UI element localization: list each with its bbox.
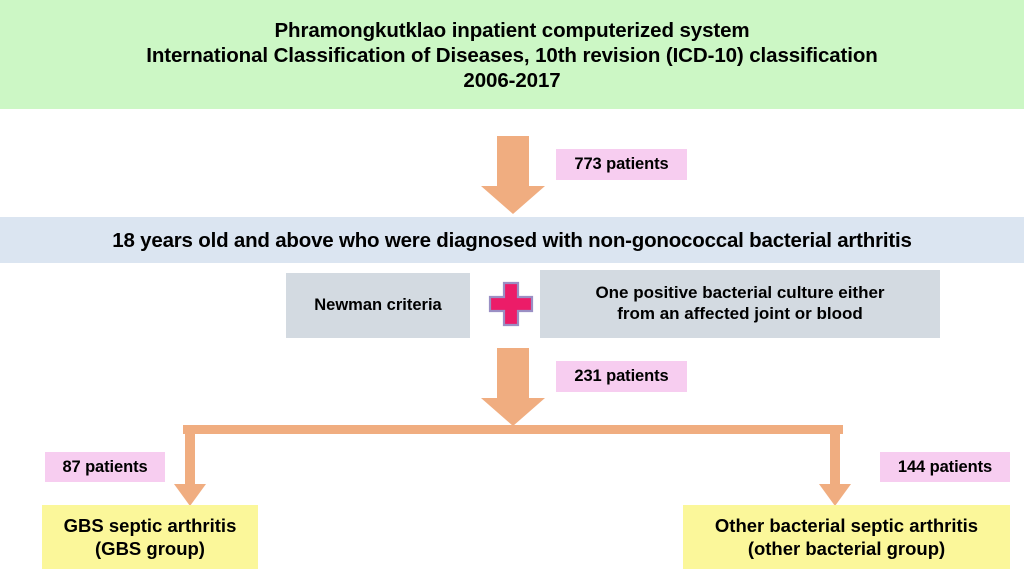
data-source-header-box: Phramongkutklao inpatient computerized s… bbox=[0, 0, 1024, 109]
count-label-87: 87 patients bbox=[45, 452, 165, 482]
split-connector-line bbox=[183, 425, 843, 434]
header-line-2: International Classification of Diseases… bbox=[146, 43, 877, 68]
header-line-1: Phramongkutklao inpatient computerized s… bbox=[274, 18, 749, 43]
arrow-stem bbox=[497, 348, 529, 398]
outcome-left-line-1: GBS septic arthritis bbox=[64, 514, 237, 537]
arrow-head bbox=[481, 398, 545, 426]
outcome-right-line-2: (other bacterial group) bbox=[748, 537, 945, 560]
outcome-right-line-1: Other bacterial septic arthritis bbox=[715, 514, 978, 537]
newman-criteria-box: Newman criteria bbox=[286, 273, 470, 338]
arrow-stem bbox=[830, 425, 840, 484]
outcome-box-other-bacterial-group: Other bacterial septic arthritis (other … bbox=[683, 505, 1010, 569]
arrow-head bbox=[481, 186, 545, 214]
arrow-stem bbox=[497, 136, 529, 186]
positive-culture-box: One positive bacterial culture either fr… bbox=[540, 270, 940, 338]
outcome-box-gbs-group: GBS septic arthritis (GBS group) bbox=[42, 505, 258, 569]
positive-culture-line-1: One positive bacterial culture either bbox=[595, 283, 884, 304]
header-line-3: 2006-2017 bbox=[463, 68, 560, 93]
flowchart-canvas: Phramongkutklao inpatient computerized s… bbox=[0, 0, 1024, 574]
arrow-down-icon-to-inclusion bbox=[481, 136, 545, 214]
arrow-down-icon-branch-left bbox=[174, 425, 206, 506]
arrow-down-icon-to-split bbox=[481, 348, 545, 426]
count-label-144: 144 patients bbox=[880, 452, 1010, 482]
outcome-left-line-2: (GBS group) bbox=[95, 537, 205, 560]
arrow-head bbox=[819, 484, 851, 506]
positive-culture-line-2: from an affected joint or blood bbox=[617, 304, 863, 325]
arrow-head bbox=[174, 484, 206, 506]
count-label-231: 231 patients bbox=[556, 361, 687, 392]
plus-icon bbox=[487, 280, 535, 328]
count-label-773: 773 patients bbox=[556, 149, 687, 180]
arrow-stem bbox=[185, 425, 195, 484]
arrow-down-icon-branch-right bbox=[819, 425, 851, 506]
inclusion-criteria-box: 18 years old and above who were diagnose… bbox=[0, 217, 1024, 263]
